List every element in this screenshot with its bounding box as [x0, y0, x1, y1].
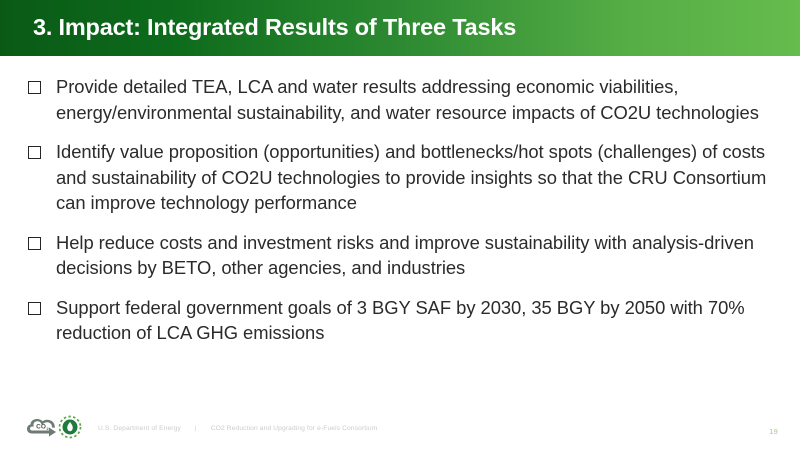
list-item: Help reduce costs and investment risks a… — [28, 230, 772, 281]
hollow-square-bullet-icon — [28, 302, 43, 317]
hollow-square-bullet-icon — [28, 146, 43, 161]
bullet-list: Provide detailed TEA, LCA and water resu… — [0, 56, 800, 406]
list-item-text: Provide detailed TEA, LCA and water resu… — [56, 74, 772, 125]
list-item: Provide detailed TEA, LCA and water resu… — [28, 74, 772, 125]
page-title: 3. Impact: Integrated Results of Three T… — [33, 16, 516, 40]
slide-footer: CO 2 U.S. Department of Energy | CO2 Red… — [0, 406, 800, 450]
footer-separator: | — [195, 425, 197, 432]
slide: 3. Impact: Integrated Results of Three T… — [0, 0, 800, 450]
hollow-square-bullet-icon — [28, 81, 43, 96]
list-item-text: Support federal government goals of 3 BG… — [56, 295, 772, 346]
list-item: Identify value proposition (opportunitie… — [28, 139, 772, 216]
list-item-text: Identify value proposition (opportunitie… — [56, 139, 772, 216]
footer-caption: U.S. Department of Energy | CO2 Reductio… — [98, 425, 377, 432]
slide-title-bar: 3. Impact: Integrated Results of Three T… — [0, 0, 800, 56]
logo-co2-label: CO — [36, 424, 46, 431]
co2-cloud-to-leaf-logo-icon: CO 2 — [26, 414, 84, 442]
hollow-square-bullet-icon — [28, 237, 43, 252]
footer-organization: U.S. Department of Energy — [98, 425, 181, 432]
page-number: 19 — [769, 427, 778, 436]
list-item-text: Help reduce costs and investment risks a… — [56, 230, 772, 281]
footer-consortium: CO2 Reduction and Upgrading for e-Fuels … — [211, 425, 378, 432]
list-item: Support federal government goals of 3 BG… — [28, 295, 772, 346]
